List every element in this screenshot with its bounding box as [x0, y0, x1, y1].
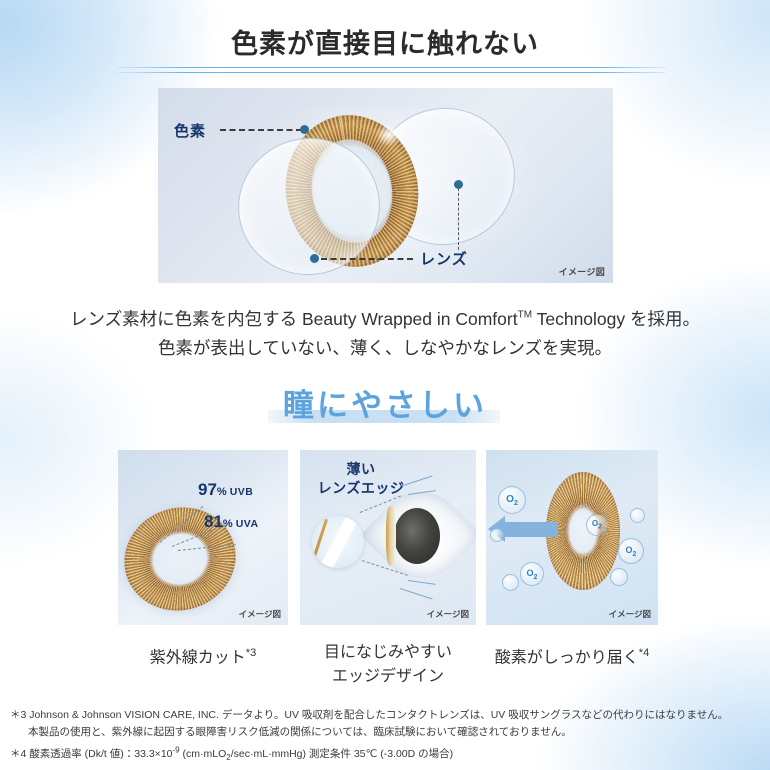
uvb-percent: % [217, 486, 227, 498]
description-line2: 色素が表出していない、薄く、しなやかなレンズを実現。 [158, 338, 612, 358]
eye-iris-icon [394, 508, 440, 564]
caption-edge-design: 目になじみやすい エッジデザイン [300, 641, 476, 689]
uva-percent: % [223, 518, 233, 530]
pigment-marker-dot [300, 125, 309, 134]
caption-oxygen-mark: *4 [639, 647, 649, 659]
footnote-3-line2: 本製品の使用と、紫外線に起因する眼障害リスク低減の関係については、臨床試験におい… [10, 724, 762, 741]
highlight-sparkle-icon [376, 124, 402, 146]
o2-bubble-7 [502, 574, 519, 591]
o2-bubble-2-label: O2 [527, 568, 538, 581]
panel-edge-design: 薄い レンズエッジ イメージ図 [300, 450, 476, 625]
edge-label-line1: 薄い [347, 461, 376, 477]
uvb-value: 97 [198, 480, 217, 499]
title-divider [118, 67, 666, 74]
footnotes: ＊3 Johnson & Johnson VISION CARE, INC. デ… [10, 707, 762, 766]
o2-bubble-4-label: O2 [626, 545, 637, 558]
caption-uv-cut-mark: *3 [246, 647, 256, 659]
caption-oxygen-text: 酸素がしっかり届く [495, 649, 639, 666]
edge-magnifier-inset [312, 516, 364, 568]
panel2-image-note: イメージ図 [427, 608, 469, 620]
section1-description: レンズ素材に色素を内包する Beauty Wrapped in ComfortT… [0, 300, 770, 363]
caption-oxygen: 酸素がしっかり届く*4 [486, 641, 658, 670]
caption-edge-line2: エッジデザイン [332, 668, 444, 685]
oxygen-flow-arrow-icon [504, 522, 558, 537]
o2-bubble-4: O2 [618, 538, 644, 564]
hero-lens-artwork [158, 88, 613, 283]
uva-value: 81 [204, 512, 223, 531]
hero-image-note: イメージ図 [559, 265, 605, 278]
lens-label: レンズ [420, 248, 468, 269]
uva-band: UVA [236, 518, 259, 530]
lens-edge-icon [386, 506, 396, 566]
uvb-band: UVB [230, 486, 254, 498]
lens-leader-line [321, 258, 413, 260]
o2-bubble-8 [490, 528, 504, 542]
panel3-image-note: イメージ図 [609, 608, 651, 620]
o2-bubble-2: O2 [520, 562, 544, 586]
eyelash-lower-2 [408, 580, 436, 585]
lens-leader-vertical [458, 188, 459, 250]
panel1-image-note: イメージ図 [239, 608, 281, 620]
footnote-3-line1: ＊3 Johnson & Johnson VISION CARE, INC. デ… [10, 709, 728, 721]
o2-bubble-3: O2 [586, 514, 608, 536]
uvb-label: 97%UVB [198, 480, 253, 500]
trademark-symbol: TM [518, 309, 532, 320]
footnote-4-exponent: -9 [173, 745, 180, 754]
section1-title: 色素が直接目に触れない [0, 22, 770, 61]
uva-label: 81%UVA [204, 512, 259, 532]
edge-label-line2: レンズエッジ [318, 480, 405, 496]
o2-bubble-3-label: O2 [592, 519, 602, 531]
lens-marker-dot [310, 254, 319, 263]
feature-panels: 97%UVB 81%UVA イメージ図 薄い レンズエッジ [118, 450, 658, 625]
o2-bubble-6 [630, 508, 645, 523]
o2-bubble-1-label: O2 [506, 494, 518, 507]
section2-title: 瞳にやさしい [0, 380, 770, 425]
panel-oxygen: O2 O2 O2 O2 イメージ図 [486, 450, 658, 625]
divider-line-bottom [118, 72, 666, 73]
lens-marker-dot-upper [454, 180, 463, 189]
pigment-leader-line [220, 129, 302, 131]
hero-lens-diagram: 色素 レンズ イメージ図 [158, 88, 613, 283]
o2-bubble-1: O2 [498, 486, 526, 514]
o2-bubble-5 [610, 568, 628, 586]
edge-label: 薄い レンズエッジ [306, 460, 416, 498]
panel-uv-cut: 97%UVB 81%UVA イメージ図 [118, 450, 288, 625]
divider-line-top [118, 67, 666, 68]
eyelash-lower [400, 588, 433, 599]
caption-uv-cut-text: 紫外線カット [150, 649, 246, 666]
caption-edge-line1: 目になじみやすい [324, 644, 452, 661]
page-root: 色素が直接目に触れない 色素 レンズ イメージ図 レンズ素材に色素を内包する B… [0, 0, 770, 770]
description-line1: レンズ素材に色素を内包する Beauty Wrapped in ComfortT… [70, 309, 700, 329]
pigment-label: 色素 [174, 120, 206, 141]
footnote-4: ＊4 酸素透過率 (Dk/t 値)：33.3×10-9 (cm·mLO2/sec… [10, 748, 453, 760]
caption-uv-cut: 紫外線カット*3 [118, 641, 288, 670]
